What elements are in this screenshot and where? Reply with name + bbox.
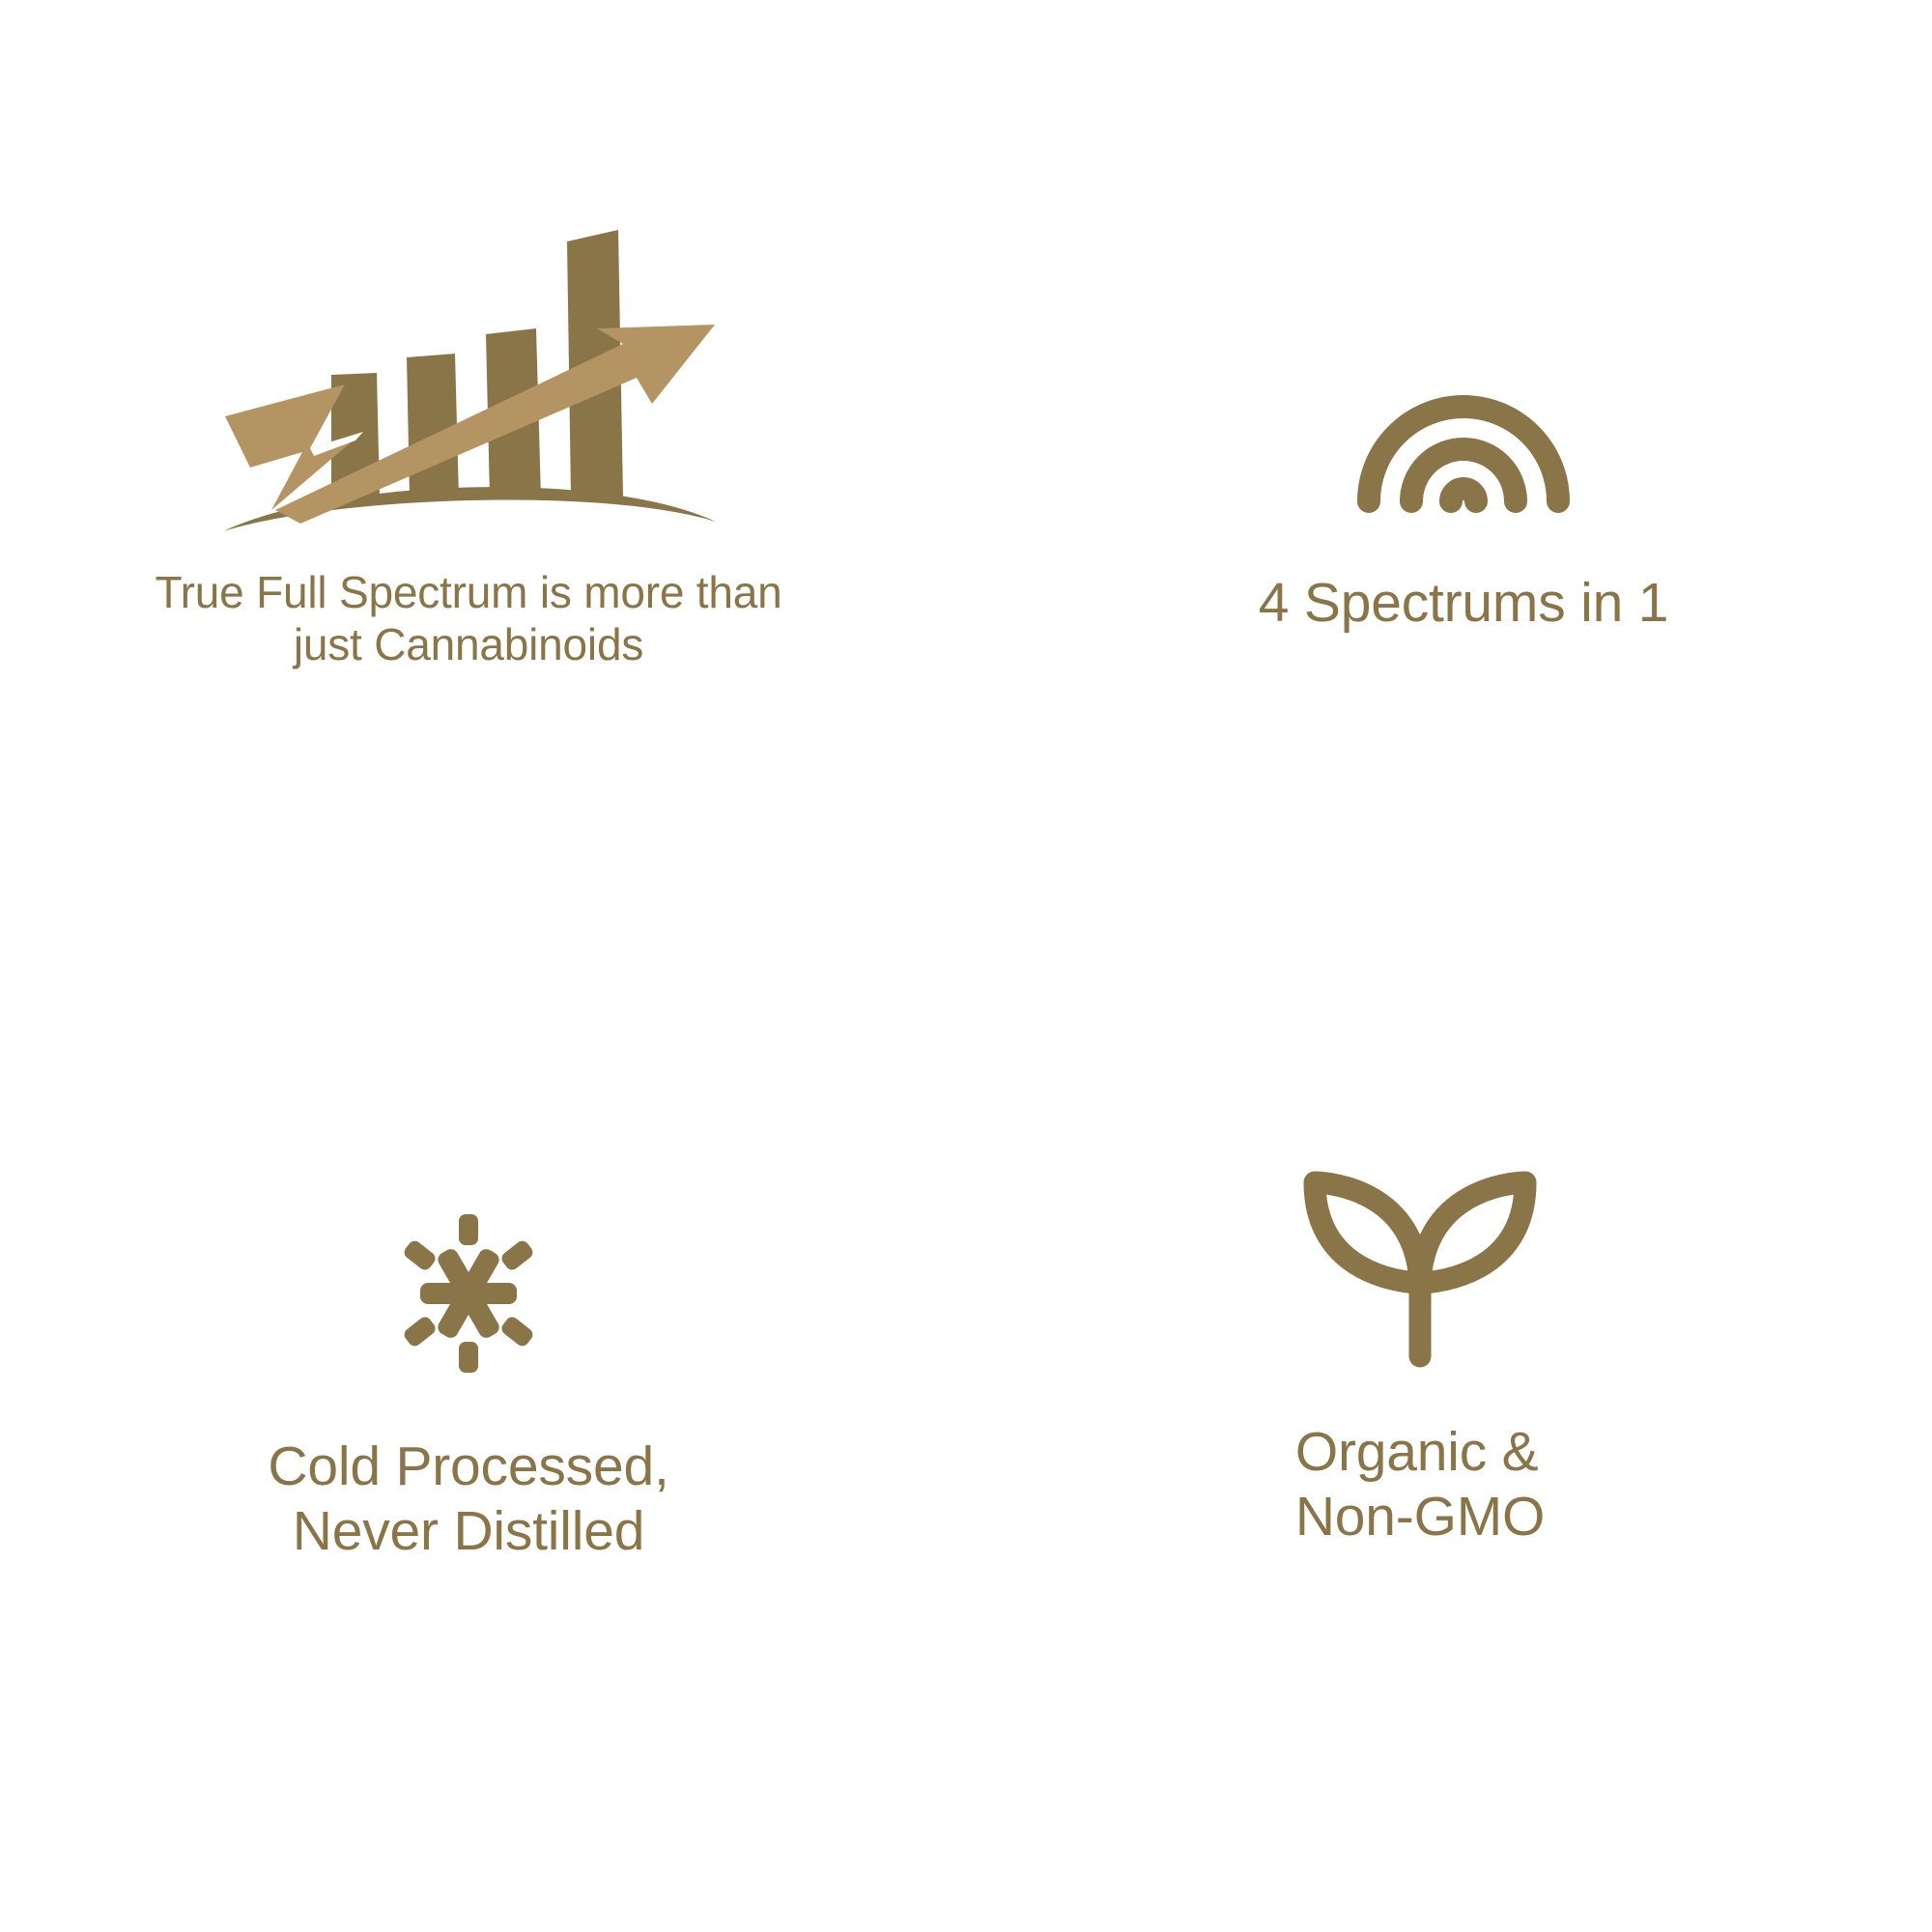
feature-caption-four-spectrums-in-one: 4 Spectrums in 1	[1259, 571, 1669, 636]
growth-bar-chart-lightning-arrow-icon	[217, 220, 720, 539]
feature-caption-organic-non-gmo: Organic & Non-GMO	[1295, 1420, 1545, 1550]
feature-badge-grid: True Full Spectrum is more than just Can…	[0, 0, 1932, 1932]
sprout-leaves-icon	[1301, 1072, 1539, 1372]
feature-card-four-spectrums-in-one: 4 Spectrums in 1	[966, 0, 1932, 966]
feature-card-cold-processed: Cold Processed, Never Distilled	[0, 966, 966, 1932]
feature-caption-cold-processed: Cold Processed, Never Distilled	[268, 1435, 668, 1565]
feature-card-true-full-spectrum: True Full Spectrum is more than just Can…	[0, 0, 966, 966]
feature-caption-true-full-spectrum: True Full Spectrum is more than just Can…	[155, 566, 781, 671]
snowflake-asterisk-icon	[391, 1106, 546, 1377]
rainbow-arcs-icon	[1348, 372, 1579, 517]
feature-card-organic-non-gmo: Organic & Non-GMO	[966, 966, 1932, 1932]
